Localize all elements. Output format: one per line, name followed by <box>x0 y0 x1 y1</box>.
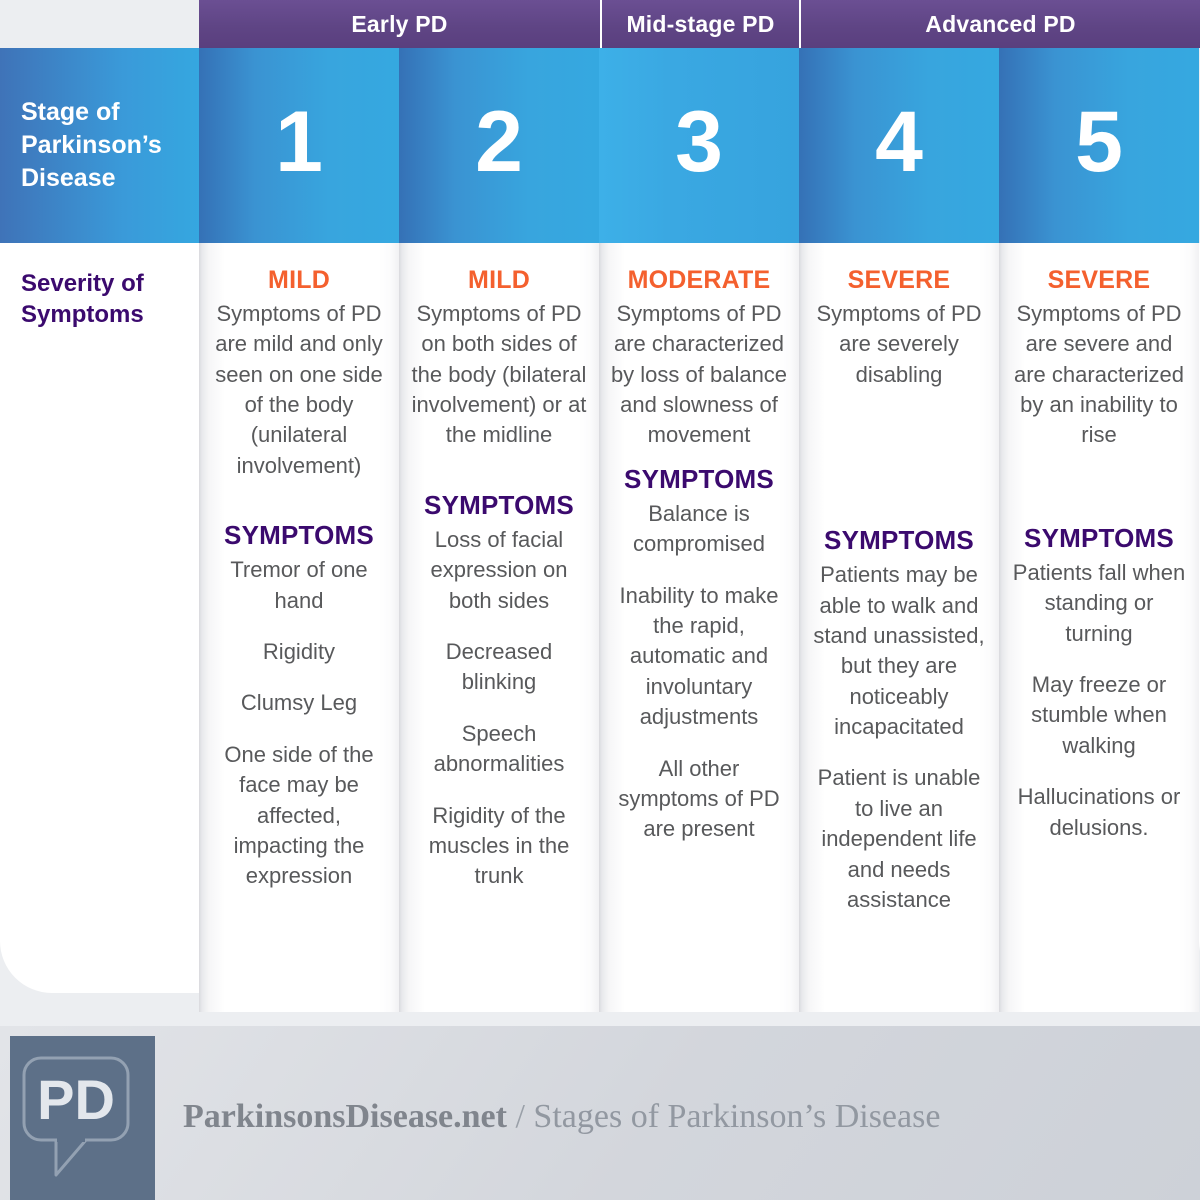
phase-advanced-pd: Advanced PD <box>799 0 1200 48</box>
symptoms-heading-2: SYMPTOMS <box>409 490 589 521</box>
severity-description-4: Symptoms of PD are severely disabling <box>809 299 989 390</box>
stage-number-3: 3 <box>599 48 799 243</box>
symptom-item: All other symptoms of PD are present <box>609 754 789 845</box>
severity-description-2: Symptoms of PD on both sides of the body… <box>409 299 589 451</box>
phase-band: Early PD Mid-stage PD Advanced PD <box>0 0 1200 48</box>
stage-column-5: SEVERE Symptoms of PD are severe and are… <box>999 243 1199 1012</box>
infographic-root: Early PD Mid-stage PD Advanced PD Stage … <box>0 0 1200 1200</box>
footer-brand: ParkinsonsDisease.net <box>183 1098 507 1135</box>
pd-logo: PD <box>10 1036 155 1200</box>
symptom-item: Speech abnormalities <box>409 719 589 780</box>
symptom-item: Decreased blinking <box>409 637 589 698</box>
symptom-item: Loss of facial expression on both sides <box>409 525 589 616</box>
severity-row-label: Severity of Symptoms <box>21 268 191 330</box>
symptom-item: Balance is compromised <box>609 499 789 560</box>
stage-column-3: MODERATE Symptoms of PD are characterize… <box>599 243 799 1012</box>
symptom-item: One side of the face may be affected, im… <box>209 740 389 892</box>
stage-number-1: 1 <box>199 48 399 243</box>
stage-column-2: MILD Symptoms of PD on both sides of the… <box>399 243 599 1012</box>
severity-level-1: MILD <box>209 265 389 295</box>
severity-level-5: SEVERE <box>1009 265 1189 295</box>
symptoms-heading-4: SYMPTOMS <box>809 525 989 556</box>
symptom-item: Clumsy Leg <box>209 688 389 718</box>
symptom-item: May freeze or stumble when walking <box>1009 670 1189 761</box>
severity-description-3: Symptoms of PD are characterized by loss… <box>609 299 789 451</box>
symptoms-heading-3: SYMPTOMS <box>609 464 789 495</box>
symptom-item: Patients fall when standing or turning <box>1009 558 1189 649</box>
symptoms-heading-1: SYMPTOMS <box>209 520 389 551</box>
symptom-item: Tremor of one hand <box>209 555 389 616</box>
symptoms-heading-5: SYMPTOMS <box>1009 523 1189 554</box>
footer-separator: / <box>515 1098 524 1135</box>
footer-attribution: ParkinsonsDisease.net / Stages of Parkin… <box>183 1098 940 1136</box>
symptom-item: Rigidity <box>209 637 389 667</box>
stage-row-label: Stage of Parkinson’s Disease <box>0 48 199 243</box>
footer-subtitle: Stages of Parkinson’s Disease <box>533 1098 940 1135</box>
stage-number-4: 4 <box>799 48 999 243</box>
severity-description-1: Symptoms of PD are mild and only seen on… <box>209 299 389 481</box>
phase-band-spacer <box>0 0 199 48</box>
phase-early-pd: Early PD <box>199 0 600 48</box>
severity-level-4: SEVERE <box>809 265 989 295</box>
stage-number-5: 5 <box>999 48 1199 243</box>
severity-level-2: MILD <box>409 265 589 295</box>
speech-bubble-icon: PD <box>10 1036 155 1200</box>
symptom-item: Patients may be able to walk and stand u… <box>809 560 989 742</box>
symptom-item: Patient is unable to live an independent… <box>809 763 989 915</box>
stage-number-row: Stage of Parkinson’s Disease 1 2 3 4 5 <box>0 48 1200 243</box>
stage-column-1: MILD Symptoms of PD are mild and only se… <box>199 243 399 1012</box>
severity-description-5: Symptoms of PD are severe and are charac… <box>1009 299 1189 451</box>
stage-number-2: 2 <box>399 48 599 243</box>
symptom-item: Hallucinations or delusions. <box>1009 782 1189 843</box>
symptom-item: Rigidity of the muscles in the trunk <box>409 801 589 892</box>
phase-mid-stage-pd: Mid-stage PD <box>600 0 799 48</box>
stage-column-4: SEVERE Symptoms of PD are severely disab… <box>799 243 999 1012</box>
symptom-item: Inability to make the rapid, automatic a… <box>609 581 789 733</box>
stage-columns: MILD Symptoms of PD are mild and only se… <box>199 243 1200 1012</box>
pd-logo-text: PD <box>37 1068 115 1131</box>
severity-level-3: MODERATE <box>609 265 789 295</box>
